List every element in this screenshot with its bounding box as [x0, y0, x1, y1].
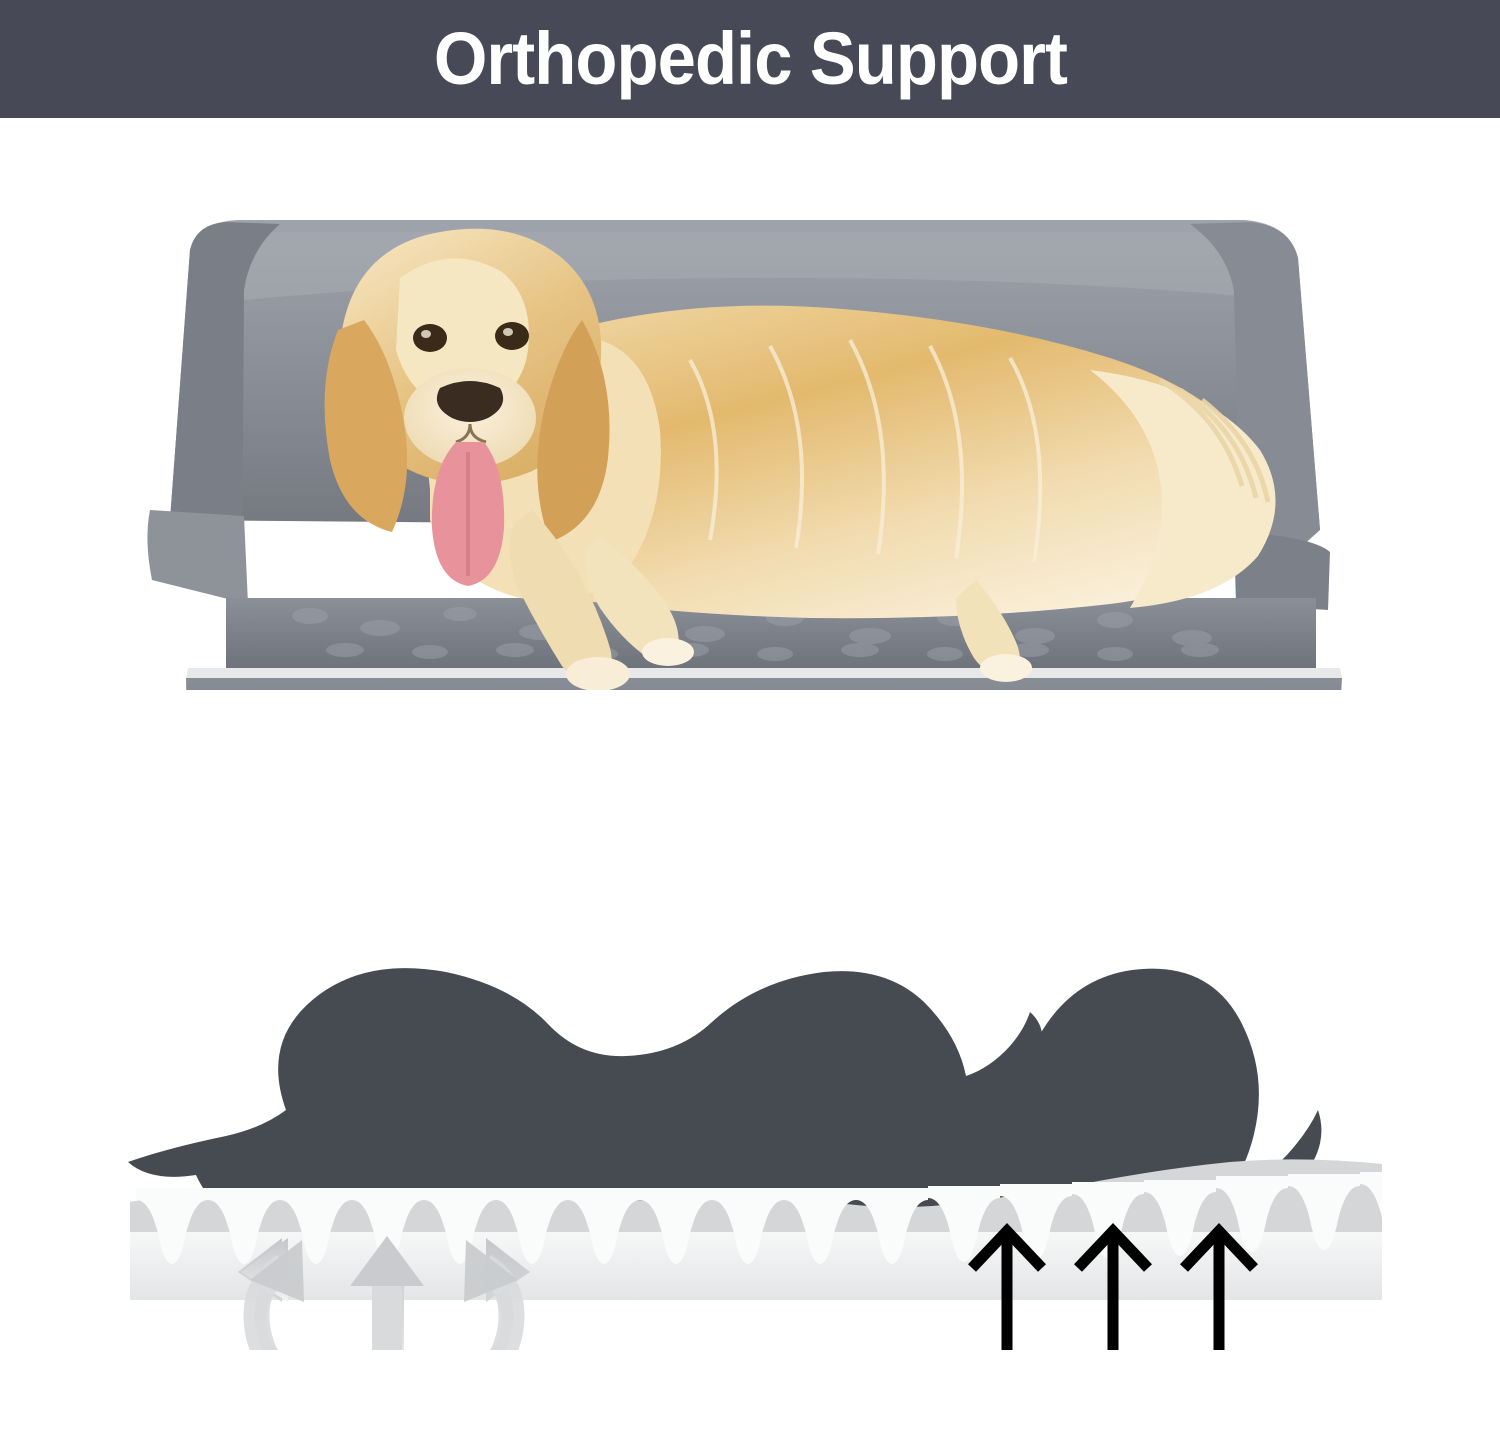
infographic-page: Orthopedic Support	[0, 0, 1500, 1444]
header-banner: Orthopedic Support	[0, 0, 1500, 118]
page-title: Orthopedic Support	[433, 22, 1066, 96]
product-photo	[130, 180, 1380, 690]
dog-on-bed-illustration	[130, 180, 1380, 690]
foam-cross-section-diagram	[0, 950, 1500, 1350]
airflow-arrow-group	[250, 1236, 518, 1350]
feature-labels: Increased Airflow Soothes Pressure Point…	[0, 1370, 1500, 1444]
hardness-scale: Too soft 1 Lack of support Moderate hard…	[0, 730, 1500, 940]
